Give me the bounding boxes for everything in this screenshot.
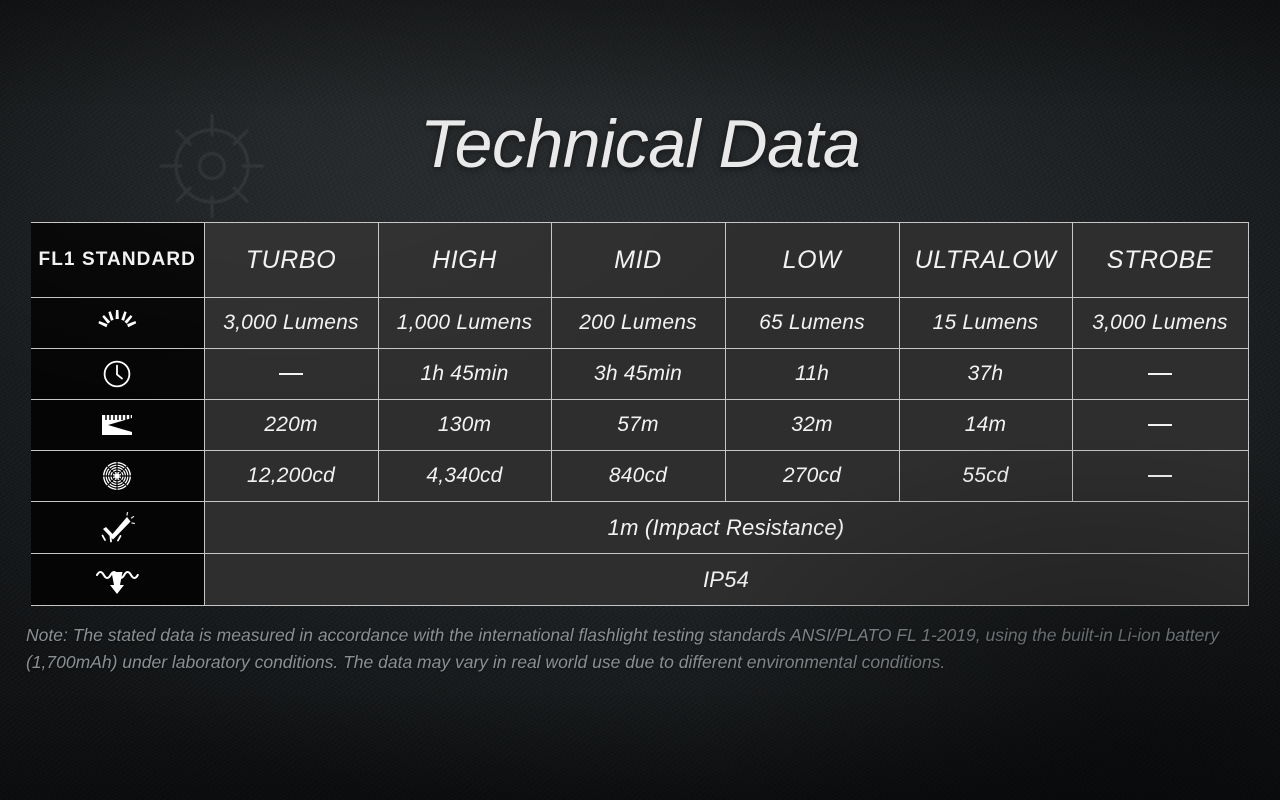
- column-header-low: LOW: [725, 223, 899, 298]
- water-resistance-icon: [31, 554, 204, 606]
- dash-mark: [279, 373, 303, 375]
- cell-intensity-low: 270cd: [725, 451, 899, 502]
- cell-runtime-turbo: [204, 349, 378, 400]
- table-row: 220m 130m 57m 32m 14m: [31, 400, 1248, 451]
- page-title: Technical Data: [0, 103, 1280, 185]
- cell-lumens-ultralow: 15 Lumens: [899, 298, 1072, 349]
- cell-distance-turbo: 220m: [204, 400, 378, 451]
- table-header-row: FL1 STANDARD TURBO HIGH MID LOW ULTRALOW…: [31, 223, 1248, 298]
- cell-intensity-ultralow: 55cd: [899, 451, 1072, 502]
- cell-intensity-strobe: [1072, 451, 1248, 502]
- cell-distance-mid: 57m: [551, 400, 725, 451]
- table-row: 3,000 Lumens 1,000 Lumens 200 Lumens 65 …: [31, 298, 1248, 349]
- cell-intensity-mid: 840cd: [551, 451, 725, 502]
- table-row: 1h 45min 3h 45min 11h 37h: [31, 349, 1248, 400]
- cell-lumens-mid: 200 Lumens: [551, 298, 725, 349]
- peak-beam-intensity-icon: [31, 451, 204, 502]
- cell-lumens-low: 65 Lumens: [725, 298, 899, 349]
- cell-runtime-mid: 3h 45min: [551, 349, 725, 400]
- column-header-ultralow: ULTRALOW: [899, 223, 1072, 298]
- cell-intensity-turbo: 12,200cd: [204, 451, 378, 502]
- dash-mark: [1148, 373, 1172, 375]
- cell-distance-low: 32m: [725, 400, 899, 451]
- column-header-strobe: STROBE: [1072, 223, 1248, 298]
- technical-data-table: FL1 STANDARD TURBO HIGH MID LOW ULTRALOW…: [31, 222, 1249, 606]
- cell-distance-high: 130m: [378, 400, 551, 451]
- technical-data-page: Technical Data FL1 STANDARD TURBO HIGH M…: [0, 0, 1280, 800]
- table-row: IP54: [31, 554, 1248, 606]
- cell-lumens-high: 1,000 Lumens: [378, 298, 551, 349]
- cell-distance-strobe: [1072, 400, 1248, 451]
- cell-distance-ultralow: 14m: [899, 400, 1072, 451]
- beam-distance-icon: [31, 400, 204, 451]
- column-header-fl1-standard: FL1 STANDARD: [31, 223, 204, 298]
- lumens-icon: [31, 298, 204, 349]
- column-header-turbo: TURBO: [204, 223, 378, 298]
- cell-water-resistance-value: IP54: [204, 554, 1248, 606]
- cell-lumens-turbo: 3,000 Lumens: [204, 298, 378, 349]
- cell-runtime-strobe: [1072, 349, 1248, 400]
- cell-intensity-high: 4,340cd: [378, 451, 551, 502]
- cell-runtime-high: 1h 45min: [378, 349, 551, 400]
- column-header-mid: MID: [551, 223, 725, 298]
- table-row: 12,200cd 4,340cd 840cd 270cd 55cd: [31, 451, 1248, 502]
- table-row: 1m (Impact Resistance): [31, 502, 1248, 554]
- cell-runtime-low: 11h: [725, 349, 899, 400]
- cell-lumens-strobe: 3,000 Lumens: [1072, 298, 1248, 349]
- footnote: Note: The stated data is measured in acc…: [26, 622, 1252, 676]
- cell-impact-resistance-value: 1m (Impact Resistance): [204, 502, 1248, 554]
- cell-runtime-ultralow: 37h: [899, 349, 1072, 400]
- impact-resistance-icon: [31, 502, 204, 554]
- runtime-clock-icon: [31, 349, 204, 400]
- column-header-high: HIGH: [378, 223, 551, 298]
- dash-mark: [1148, 475, 1172, 477]
- dash-mark: [1148, 424, 1172, 426]
